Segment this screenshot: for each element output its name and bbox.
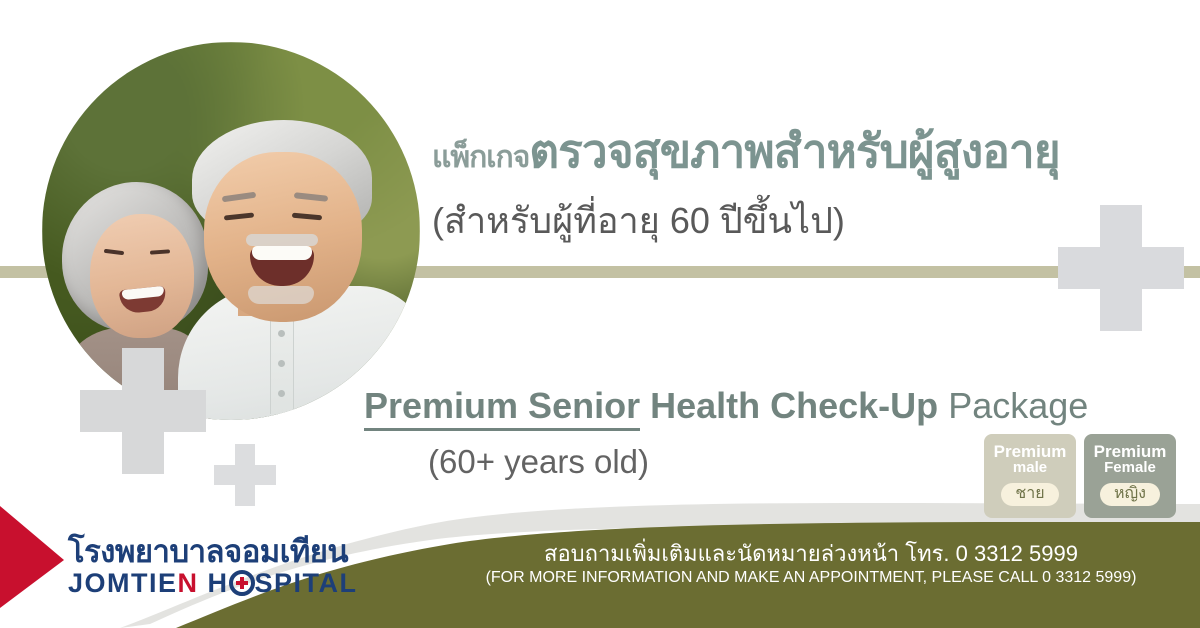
badge-male-line1: Premium bbox=[994, 443, 1067, 460]
photo-man-moustache bbox=[246, 234, 318, 246]
gender-badge-group: Premium male ชาย Premium Female หญิง bbox=[984, 434, 1176, 518]
badge-premium-female[interactable]: Premium Female หญิง bbox=[1084, 434, 1176, 518]
footer-english-line: (FOR MORE INFORMATION AND MAKE AN APPOIN… bbox=[430, 568, 1192, 589]
thai-headline: แพ็กเกจตรวจสุขภาพสำหรับผู้สูงอายุ bbox=[432, 128, 1060, 174]
logo-en-after: SPITAL bbox=[255, 568, 358, 598]
english-headline-health-checkup: Health Check-Up bbox=[650, 385, 938, 426]
footer-thai-line: สอบถามเพิ่มเติมและนัดหมายล่วงหน้า โทร. 0… bbox=[430, 540, 1192, 568]
badge-female-line2: Female bbox=[1104, 460, 1156, 477]
logo-red-triangle-icon bbox=[0, 504, 72, 608]
badge-female-line1: Premium bbox=[1094, 443, 1167, 460]
english-subtitle: (60+ years old) bbox=[428, 443, 649, 481]
english-headline-package: Package bbox=[948, 385, 1088, 426]
badge-male-line2: male bbox=[1013, 460, 1047, 477]
medical-cross-icon bbox=[214, 444, 276, 506]
hospital-logo[interactable]: โรงพยาบาลจอมเทียน JOMTIEN HSPITAL bbox=[0, 498, 360, 628]
medical-cross-icon bbox=[80, 348, 206, 474]
footer-contact-text: สอบถามเพิ่มเติมและนัดหมายล่วงหน้า โทร. 0… bbox=[430, 540, 1192, 588]
english-headline-premium-senior: Premium Senior bbox=[364, 385, 640, 431]
thai-subtitle: (สำหรับผู้ที่อายุ 60 ปีขึ้นไป) bbox=[432, 192, 845, 249]
photo-man-chin-beard bbox=[248, 286, 314, 304]
logo-english-name: JOMTIEN HSPITAL bbox=[68, 568, 358, 599]
logo-en-red-letter: N bbox=[178, 568, 199, 598]
thai-headline-main: ตรวจสุขภาพ bbox=[529, 125, 773, 177]
photo-man-shirt-button bbox=[278, 330, 285, 337]
logo-en-before: JOMTIE bbox=[68, 568, 178, 598]
photo-man-teeth bbox=[252, 246, 312, 260]
english-headline: Premium Senior Health Check-Up Package bbox=[364, 388, 1088, 424]
photo-man-shirt-button bbox=[278, 360, 285, 367]
logo-en-mid: H bbox=[199, 568, 229, 598]
thai-headline-main-underlined: สำหรับผู้สูงอายุ bbox=[774, 125, 1060, 177]
medical-cross-icon bbox=[1058, 205, 1184, 331]
thai-headline-prefix: แพ็กเกจ bbox=[432, 141, 529, 174]
badge-female-pill-thai: หญิง bbox=[1100, 483, 1160, 506]
logo-cross-in-o-icon bbox=[229, 570, 255, 596]
photo-man-shirt-button bbox=[278, 390, 285, 397]
photo-woman-face bbox=[90, 214, 194, 338]
promo-banner: แพ็กเกจตรวจสุขภาพสำหรับผู้สูงอายุ (สำหรั… bbox=[0, 0, 1200, 628]
badge-premium-male[interactable]: Premium male ชาย bbox=[984, 434, 1076, 518]
badge-male-pill-thai: ชาย bbox=[1001, 483, 1058, 506]
